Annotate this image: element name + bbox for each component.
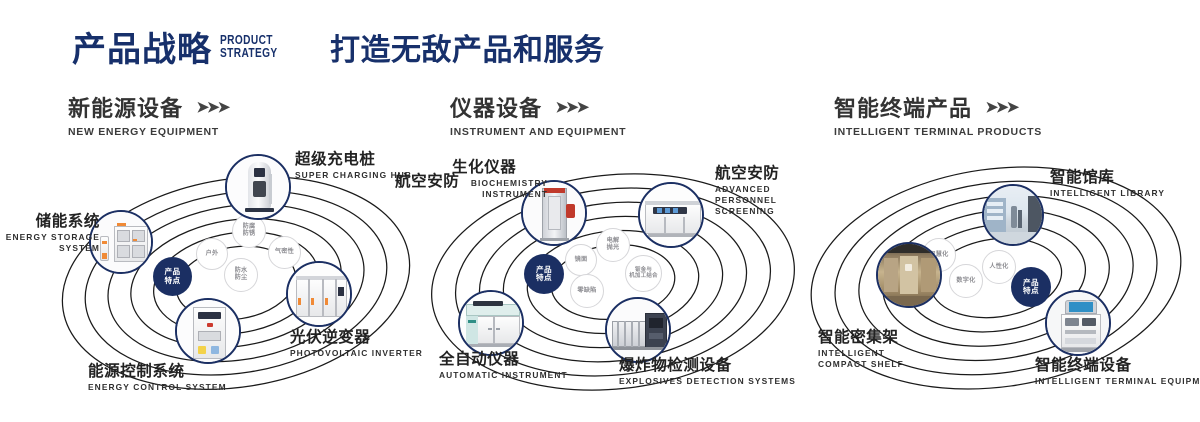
node-label-en: INTELLIGENT TERMINAL EQUIPMENT	[1035, 376, 1200, 387]
cluster-intelligent-terminal: 智慧化 数字化 人性化 产品 特点	[800, 150, 1200, 400]
analyzer-icon	[640, 184, 702, 246]
pill-line2: 机加工结合	[629, 274, 658, 280]
badge-line2: 特点	[1023, 287, 1039, 296]
node-bubble-kiosk[interactable]	[1045, 290, 1111, 356]
node-label-explosive-detection: 爆炸物检测设备 EXPLOSIVES DETECTION SYSTEMS	[619, 356, 796, 387]
node-bubble-library[interactable]	[982, 184, 1044, 246]
feature-pill-waterproof: 防水 防尘	[224, 258, 258, 292]
node-label-cn: 智能终端设备	[1035, 356, 1200, 375]
section-title-en: INTELLIGENT TERMINAL PRODUCTS	[834, 126, 1042, 138]
feature-badge-product-traits: 产品 特点	[154, 258, 191, 295]
charging-pile-icon	[227, 156, 289, 218]
section-title-cn: 智能终端产品	[834, 96, 972, 122]
page-header: 产品战略 PRODUCT STRATEGY 打造无敌产品和服务	[0, 0, 1200, 92]
node-label-terminal-equipment: 智能终端设备 INTELLIGENT TERMINAL EQUIPMENT	[1035, 356, 1200, 387]
section-title-instrument: 仪器设备 ➤➤➤ INSTRUMENT AND EQUIPMENT	[450, 96, 626, 138]
node-label-cn: 光伏逆变器	[290, 328, 423, 347]
node-label-auto-instrument: 全自动仪器 AUTOMATIC INSTRUMENT	[439, 350, 568, 381]
pill-line1: 气密性	[275, 249, 294, 256]
cluster-new-energy: 产品 特点 户外 防腐 防锈 防水 防尘 气密性	[40, 150, 440, 400]
section-title-cn: 仪器设备	[450, 96, 542, 122]
page-title-en-line2: STRATEGY	[220, 46, 278, 59]
library-photo-icon	[984, 186, 1042, 244]
node-bubble-compact-shelf[interactable]	[876, 242, 942, 308]
section-title-cn: 新能源设备	[68, 96, 183, 122]
node-label-cn: 智能密集架	[788, 328, 928, 347]
chevron-right-triple-icon: ➤➤➤	[196, 98, 228, 116]
node-label-cn: 智能馆库	[1050, 168, 1165, 187]
node-label-cn: 超级充电桩	[295, 150, 412, 169]
node-label-en: BIOCHEMISTRY INSTRUMENT	[452, 178, 548, 200]
cluster-instrument: 产品 特点 镜面 电解 抛光 零缺陷 钣金与 机加工结合	[425, 150, 825, 400]
node-label-control-system: 能源控制系统 ENERGY CONTROL SYSTEM	[88, 362, 227, 393]
node-bubble-inverter[interactable]	[286, 261, 352, 327]
node-label-library: 智能馆库 INTELLIGENT LIBRARY	[1050, 168, 1165, 199]
node-label-aviation-security: 航空安防 ADVANCED PERSONNEL SCREENING	[715, 164, 811, 217]
node-bubble-charging-pile[interactable]	[225, 154, 291, 220]
section-title-en: NEW ENERGY EQUIPMENT	[68, 126, 228, 138]
feature-pill-outdoor: 户外	[196, 238, 228, 270]
node-label-en: INTELLIGENT COMPACT SHELF	[818, 348, 918, 370]
auto-instrument-icon	[460, 292, 522, 354]
node-label-inverter: 光伏逆变器 PHOTOVOLTAIC INVERTER	[290, 328, 423, 359]
control-cabinet-icon	[177, 300, 239, 362]
node-bubble-explosive-detector[interactable]	[605, 297, 671, 363]
page-title-cn: 产品战略	[72, 30, 212, 70]
pill-line2: 抛光	[607, 245, 620, 252]
inverter-cabinet-icon	[288, 263, 350, 325]
node-label-cn: 爆炸物检测设备	[619, 356, 796, 375]
feature-pill-zero-defect: 零缺陷	[570, 274, 604, 308]
pill-line2: 防锈	[243, 231, 256, 238]
feature-pill-humanized: 人性化	[982, 250, 1016, 284]
node-label-en: EXPLOSIVES DETECTION SYSTEMS	[619, 376, 796, 387]
feature-badge-product-traits: 产品 特点	[1012, 268, 1050, 306]
node-label-energy-storage: 储能系统 ENERGY STORAGE SYSTEM	[0, 212, 100, 254]
node-label-en: AUTOMATIC INSTRUMENT	[439, 370, 568, 381]
feature-pill-sheetmetal-machining: 钣金与 机加工结合	[625, 255, 662, 292]
node-label-en: ENERGY STORAGE SYSTEM	[0, 232, 100, 254]
node-label-cn: 生化仪器	[452, 158, 548, 177]
section-title-new-energy: 新能源设备 ➤➤➤ NEW ENERGY EQUIPMENT	[68, 96, 228, 138]
node-label-en: ENERGY CONTROL SYSTEM	[88, 382, 227, 393]
node-label-cn: 全自动仪器	[439, 350, 568, 369]
badge-line2: 特点	[536, 274, 552, 283]
node-label-cn: 能源控制系统	[88, 362, 227, 381]
feature-badge-product-traits: 产品 特点	[525, 255, 563, 293]
chevron-right-triple-icon: ➤➤➤	[985, 98, 1017, 116]
pill-line1: 零缺陷	[577, 288, 596, 295]
badge-line2: 特点	[165, 277, 181, 286]
page-slogan: 打造无敌产品和服务	[330, 33, 605, 69]
compact-shelf-photo-icon	[878, 244, 940, 306]
node-label-aviation-security-left: 航空安防	[395, 172, 447, 191]
pill-line1: 人性化	[989, 264, 1008, 271]
section-title-intelligent: 智能终端产品 ➤➤➤ INTELLIGENT TERMINAL PRODUCTS	[834, 96, 1042, 138]
feature-pill-mirror-finish: 镜面	[565, 244, 597, 276]
node-bubble-auto-instrument[interactable]	[458, 290, 524, 356]
self-service-kiosk-icon	[1047, 292, 1109, 354]
node-label-cn: 航空安防	[715, 164, 811, 183]
energy-storage-cabinet-icon	[91, 212, 151, 272]
node-label-en: INTELLIGENT LIBRARY	[1050, 188, 1165, 199]
chevron-right-triple-icon: ➤➤➤	[555, 98, 587, 116]
feature-pill-digital: 数字化	[949, 264, 983, 298]
node-label-compact-shelf: 智能密集架 INTELLIGENT COMPACT SHELF	[788, 328, 928, 370]
feature-pill-electropolishing: 电解 抛光	[596, 228, 630, 262]
section-title-en: INSTRUMENT AND EQUIPMENT	[450, 126, 626, 138]
page-title-en: PRODUCT STRATEGY	[220, 33, 278, 59]
node-label-biochemistry: 生化仪器 BIOCHEMISTRY INSTRUMENT	[452, 158, 548, 200]
explosive-detector-icon	[607, 299, 669, 361]
pill-line1: 数字化	[956, 278, 975, 285]
node-bubble-analyzer[interactable]	[638, 182, 704, 248]
node-label-en: ADVANCED PERSONNEL SCREENING	[715, 184, 811, 217]
node-label-cn: 航空安防	[395, 172, 447, 191]
node-bubble-control-cabinet[interactable]	[175, 298, 241, 364]
node-label-cn: 储能系统	[0, 212, 100, 231]
pill-line2: 防尘	[235, 275, 248, 282]
node-label-en: PHOTOVOLTAIC INVERTER	[290, 348, 423, 359]
pill-line1: 镜面	[575, 257, 588, 264]
pill-line1: 户外	[206, 251, 219, 258]
